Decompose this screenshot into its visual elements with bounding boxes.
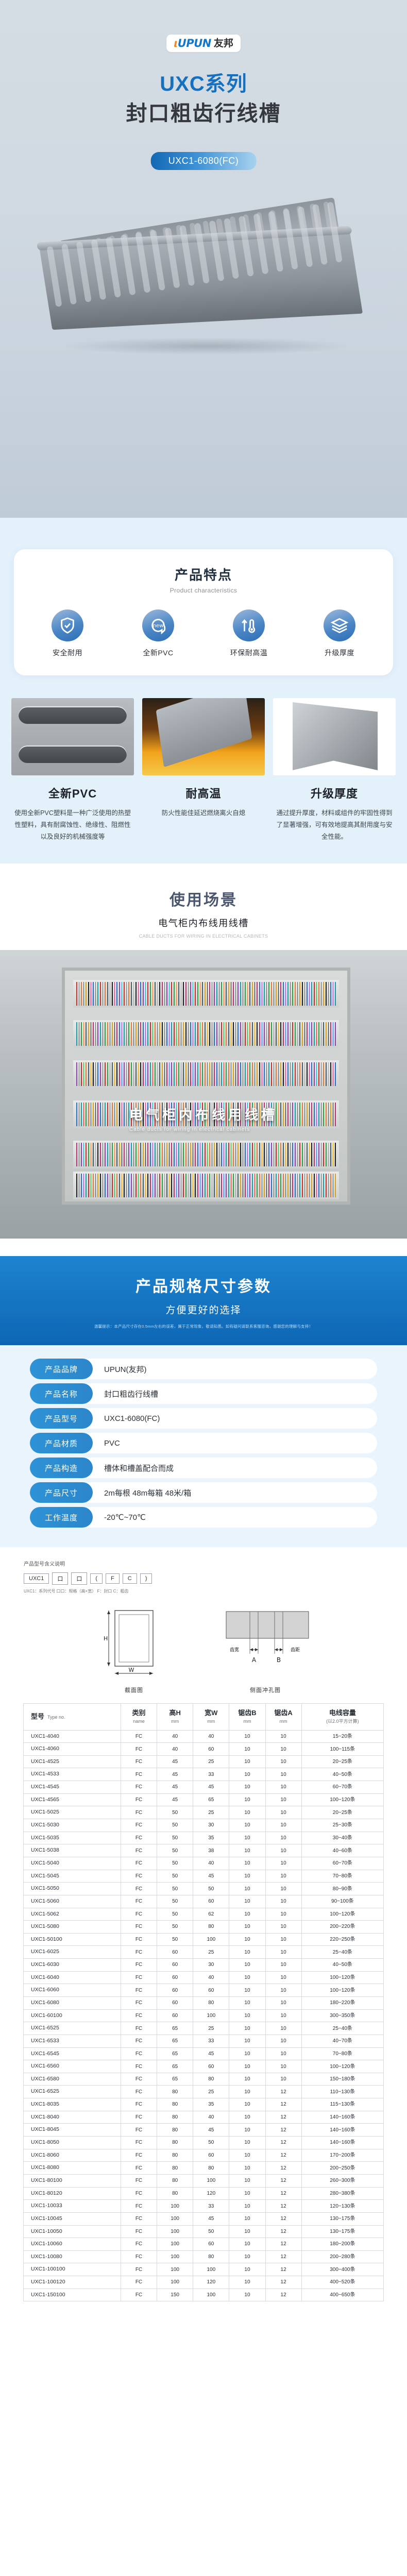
cell-value: 12 bbox=[265, 2200, 301, 2213]
cell-model: UXC1-6525 bbox=[24, 2022, 121, 2035]
table-row: UXC1-80120FC801201012280~380条 bbox=[24, 2187, 384, 2200]
cell-value: 10 bbox=[229, 2289, 265, 2301]
model-code-diagram: UXC1 口 口 ( F C ) bbox=[24, 1572, 383, 1585]
cell-value: 10 bbox=[265, 1895, 301, 1908]
feature-label: 环保耐高温 bbox=[210, 648, 287, 658]
cell-model: UXC1-5040 bbox=[24, 1857, 121, 1870]
cell-value: 100~120条 bbox=[301, 1908, 383, 1921]
cell-value: 70~80条 bbox=[301, 2047, 383, 2060]
cell-value: 10 bbox=[265, 1883, 301, 1895]
cell-value: 12 bbox=[265, 2289, 301, 2301]
table-row: UXC1-6060FC60601010100~120条 bbox=[24, 1984, 384, 1997]
cell-value: FC bbox=[121, 2060, 157, 2073]
cell-value: 40 bbox=[157, 1743, 193, 1756]
cell-value: FC bbox=[121, 1908, 157, 1921]
cell-value: FC bbox=[121, 1870, 157, 1883]
spec-table-section: 产品型号含义说明 UXC1 口 口 ( F C ) UXC1：系列代号 口口：规… bbox=[0, 1547, 407, 2322]
cell-value: FC bbox=[121, 2009, 157, 2022]
cell-value: 60 bbox=[193, 2149, 229, 2162]
cell-model: UXC1-6533 bbox=[24, 2035, 121, 2047]
cell-value: 10 bbox=[265, 1844, 301, 1857]
table-row: UXC1-4525FC4525101020~25条 bbox=[24, 1755, 384, 1768]
table-row: UXC1-8050FC80501012140~160条 bbox=[24, 2137, 384, 2149]
cell-value: 10 bbox=[229, 1844, 265, 1857]
cell-model: UXC1-8045 bbox=[24, 2124, 121, 2137]
duct-thickness-image bbox=[273, 698, 396, 775]
cell-value: 50 bbox=[157, 1857, 193, 1870]
table-row: UXC1-8040FC80401012140~160条 bbox=[24, 2111, 384, 2124]
cell-value: 10 bbox=[265, 1997, 301, 2010]
cell-value: 80 bbox=[157, 2187, 193, 2200]
table-row: UXC1-4060FC40601010100~115条 bbox=[24, 1743, 384, 1756]
cell-value: 10 bbox=[265, 2047, 301, 2060]
cell-value: 10 bbox=[229, 1895, 265, 1908]
cell-value: 62 bbox=[193, 1908, 229, 1921]
cell-value: 60 bbox=[157, 1971, 193, 1984]
features-card: 产品特点 Product characteristics 安全耐用 new 全新… bbox=[14, 549, 393, 675]
cell-model: UXC1-10080 bbox=[24, 2250, 121, 2263]
cell-value: 10 bbox=[229, 2047, 265, 2060]
cell-value: 10 bbox=[229, 1793, 265, 1806]
cell-value: 40 bbox=[193, 1971, 229, 1984]
cell-value: 110~130条 bbox=[301, 2086, 383, 2098]
cell-value: 10 bbox=[265, 1959, 301, 1972]
cell-value: FC bbox=[121, 1997, 157, 2010]
cell-value: 10 bbox=[229, 1781, 265, 1794]
feature-item-new-pvc: new 全新PVC bbox=[120, 609, 197, 658]
cell-value: FC bbox=[121, 2035, 157, 2047]
cell-model: UXC1-5080 bbox=[24, 1921, 121, 1934]
cell-value: FC bbox=[121, 1959, 157, 1972]
cell-value: 25~40条 bbox=[301, 1946, 383, 1959]
cell-value: 50 bbox=[193, 1883, 229, 1895]
cell-value: 80 bbox=[193, 2250, 229, 2263]
cell-value: 10 bbox=[229, 1883, 265, 1895]
cell-value: FC bbox=[121, 2149, 157, 2162]
spec-banner-note: 温馨提示：本产品尺寸存在0.5mm左右的误差，属于正常现象，敬请知悉。如有疑问请… bbox=[0, 1324, 407, 1330]
brand-logo: ιUPUN 友邦 bbox=[166, 35, 241, 52]
table-row: UXC1-8080FC80801012200~250条 bbox=[24, 2162, 384, 2175]
table-row: UXC1-4533FC4533101040~50条 bbox=[24, 1768, 384, 1781]
table-header-model: 型号Type no. bbox=[24, 1703, 121, 1730]
cell-value: 10 bbox=[265, 2009, 301, 2022]
cell-value: 100 bbox=[193, 2174, 229, 2187]
cell-value: 65 bbox=[157, 2035, 193, 2047]
cell-value: FC bbox=[121, 1857, 157, 1870]
cell-value: 10 bbox=[229, 1946, 265, 1959]
cell-value: 50 bbox=[193, 2225, 229, 2238]
spec-value: UPUN(友邦) bbox=[93, 1364, 147, 1375]
cell-value: 10 bbox=[229, 2174, 265, 2187]
thermometer-up-icon bbox=[233, 609, 265, 641]
cell-value: 10 bbox=[229, 2086, 265, 2098]
cell-model: UXC1-5038 bbox=[24, 1844, 121, 1857]
cell-value: 38 bbox=[193, 1844, 229, 1857]
table-header-tooth-a: 锯齿Amm bbox=[265, 1703, 301, 1730]
svg-text:B: B bbox=[277, 1656, 281, 1664]
table-row: UXC1-4040FC4040101015~20条 bbox=[24, 1730, 384, 1743]
cell-value: 45 bbox=[193, 2212, 229, 2225]
cell-model: UXC1-100120 bbox=[24, 2276, 121, 2289]
cell-value: 40 bbox=[193, 1730, 229, 1743]
cell-value: FC bbox=[121, 2174, 157, 2187]
hero-subtitle: 封口粗齿行线槽 bbox=[0, 96, 407, 127]
cell-model: UXC1-4545 bbox=[24, 1781, 121, 1794]
detail-heading: 耐高温 bbox=[142, 785, 265, 801]
cell-value: 50 bbox=[157, 1806, 193, 1819]
cell-model: UXC1-4060 bbox=[24, 1743, 121, 1756]
shield-check-icon bbox=[52, 609, 83, 641]
cell-value: 45 bbox=[157, 1768, 193, 1781]
cell-value: 40~70条 bbox=[301, 2035, 383, 2047]
cell-value: 10 bbox=[229, 2060, 265, 2073]
cell-model: UXC1-6025 bbox=[24, 1946, 121, 1959]
cell-model: UXC1-6560 bbox=[24, 2060, 121, 2073]
cell-value: FC bbox=[121, 2098, 157, 2111]
cell-value: 40~60条 bbox=[301, 1844, 383, 1857]
cell-value: 33 bbox=[193, 2035, 229, 2047]
spec-value: 封口粗齿行线槽 bbox=[93, 1388, 158, 1399]
cell-value: 12 bbox=[265, 2250, 301, 2263]
table-row: UXC1-5045FC5045101070~80条 bbox=[24, 1870, 384, 1883]
cell-value: FC bbox=[121, 1971, 157, 1984]
cell-value: 10 bbox=[265, 1806, 301, 1819]
cell-value: 12 bbox=[265, 2149, 301, 2162]
cell-value: 80 bbox=[157, 2162, 193, 2175]
cell-value: FC bbox=[121, 1793, 157, 1806]
cell-value: 50 bbox=[157, 1844, 193, 1857]
spec-key: 产品品牌 bbox=[30, 1359, 93, 1379]
cell-value: 45 bbox=[157, 1755, 193, 1768]
cell-value: 10 bbox=[229, 1819, 265, 1832]
cell-value: 12 bbox=[265, 2225, 301, 2238]
cell-value: 80 bbox=[193, 2073, 229, 2086]
cell-value: 100~120条 bbox=[301, 1793, 383, 1806]
cell-value: 90~100条 bbox=[301, 1895, 383, 1908]
cell-value: 120 bbox=[193, 2187, 229, 2200]
table-row: UXC1-5038FC5038101040~60条 bbox=[24, 1844, 384, 1857]
cell-value: 10 bbox=[229, 2149, 265, 2162]
cell-value: 100 bbox=[157, 2276, 193, 2289]
cell-value: 10 bbox=[229, 2263, 265, 2276]
code-cell: 口 bbox=[71, 1572, 87, 1585]
specification-table: 型号Type no. 类别name 高Hmm 宽Wmm 锯齿Bmm bbox=[23, 1703, 384, 2301]
cell-value: 10 bbox=[265, 1793, 301, 1806]
code-block-note: 产品型号含义说明 bbox=[24, 1560, 383, 1567]
cell-value: 60 bbox=[157, 1984, 193, 1997]
cell-value: 50 bbox=[157, 1933, 193, 1946]
cell-value: 100 bbox=[193, 2289, 229, 2301]
cell-model: UXC1-6060 bbox=[24, 1984, 121, 1997]
table-row: UXC1-6025FC6025101025~40条 bbox=[24, 1946, 384, 1959]
table-row: UXC1-5040FC5040101060~70条 bbox=[24, 1857, 384, 1870]
cell-value: 50 bbox=[157, 1908, 193, 1921]
code-cell: UXC1 bbox=[24, 1573, 49, 1584]
cell-value: 20~25条 bbox=[301, 1806, 383, 1819]
cell-model: UXC1-8035 bbox=[24, 2098, 121, 2111]
cell-value: FC bbox=[121, 1730, 157, 1743]
cell-value: 12 bbox=[265, 2212, 301, 2225]
cell-model: UXC1-80100 bbox=[24, 2174, 121, 2187]
cell-value: 15~20条 bbox=[301, 1730, 383, 1743]
side-punch-drawing: 齿宽 齿距 A B 侧面冲孔图 bbox=[214, 1604, 317, 1694]
cell-value: 10 bbox=[229, 1832, 265, 1844]
hero-model-badge: UXC1-6080(FC) bbox=[151, 152, 257, 170]
feature-label: 安全耐用 bbox=[29, 648, 106, 658]
cell-value: 10 bbox=[229, 2009, 265, 2022]
cabinet-body bbox=[62, 968, 350, 1205]
cell-value: FC bbox=[121, 1743, 157, 1756]
cell-value: 100 bbox=[157, 2250, 193, 2263]
cell-model: UXC1-8060 bbox=[24, 2149, 121, 2162]
layers-icon bbox=[324, 609, 355, 641]
cell-value: 80 bbox=[193, 2162, 229, 2175]
table-row: UXC1-4565FC45651010100~120条 bbox=[24, 1793, 384, 1806]
table-row: UXC1-10033FC100331012120~130条 bbox=[24, 2200, 384, 2213]
cell-value: 10 bbox=[229, 2124, 265, 2137]
cell-value: 70~80条 bbox=[301, 1870, 383, 1883]
cell-value: 200~280条 bbox=[301, 2250, 383, 2263]
table-row: UXC1-80100FC801001012260~300条 bbox=[24, 2174, 384, 2187]
cell-value: 10 bbox=[229, 1984, 265, 1997]
spec-row: 产品构造 槽体和槽盖配合而成 bbox=[30, 1458, 377, 1478]
cell-model: UXC1-8040 bbox=[24, 2111, 121, 2124]
cell-value: 40~50条 bbox=[301, 1959, 383, 1972]
spec-value: 槽体和槽盖配合而成 bbox=[93, 1463, 174, 1473]
cell-value: 200~220条 bbox=[301, 1921, 383, 1934]
cell-value: 12 bbox=[265, 2098, 301, 2111]
cell-value: 25 bbox=[193, 2086, 229, 2098]
cell-value: 40 bbox=[157, 1730, 193, 1743]
cell-value: 25 bbox=[193, 2022, 229, 2035]
cell-value: 60 bbox=[193, 1895, 229, 1908]
cell-value: 10 bbox=[265, 1870, 301, 1883]
code-cell: C bbox=[123, 1573, 137, 1584]
svg-text:H: H bbox=[104, 1635, 108, 1642]
table-row: UXC1-50100FC501001010220~250条 bbox=[24, 1933, 384, 1946]
cell-value: 10 bbox=[229, 2238, 265, 2251]
cross-section-drawing: H W 截面图 bbox=[90, 1604, 178, 1694]
cell-model: UXC1-8080 bbox=[24, 2162, 121, 2175]
cell-value: 12 bbox=[265, 2086, 301, 2098]
detail-body: 防火性能佳延迟燃烧离火自熄 bbox=[142, 807, 265, 819]
cell-value: 10 bbox=[265, 1743, 301, 1756]
cell-value: 12 bbox=[265, 2263, 301, 2276]
cell-value: 10 bbox=[265, 1857, 301, 1870]
cell-value: 100~115条 bbox=[301, 1743, 383, 1756]
cell-value: 10 bbox=[229, 1857, 265, 1870]
cell-value: 40 bbox=[193, 2111, 229, 2124]
cell-value: 100 bbox=[157, 2225, 193, 2238]
cell-value: 20~25条 bbox=[301, 1755, 383, 1768]
table-row: UXC1-6580FC65801010150~180条 bbox=[24, 2073, 384, 2086]
cell-value: 12 bbox=[265, 2238, 301, 2251]
table-row: UXC1-150100FC1501001012400~650条 bbox=[24, 2289, 384, 2301]
svg-text:A: A bbox=[252, 1656, 257, 1664]
table-row: UXC1-8045FC80451012140~160条 bbox=[24, 2124, 384, 2137]
cell-value: FC bbox=[121, 2238, 157, 2251]
cell-value: 33 bbox=[193, 1768, 229, 1781]
cell-value: 10 bbox=[265, 1768, 301, 1781]
cell-model: UXC1-80120 bbox=[24, 2187, 121, 2200]
duct-over-flame-image bbox=[142, 698, 265, 775]
cell-value: 45 bbox=[193, 1781, 229, 1794]
table-row: UXC1-5062FC50621010100~120条 bbox=[24, 1908, 384, 1921]
scene-subtitle: 电气柜内布线用线槽 bbox=[0, 916, 407, 929]
spec-value: -20℃~70℃ bbox=[93, 1513, 146, 1522]
cell-model: UXC1-10060 bbox=[24, 2238, 121, 2251]
cell-value: 180~220条 bbox=[301, 1997, 383, 2010]
svg-text:new: new bbox=[153, 623, 163, 629]
cell-value: 60~70条 bbox=[301, 1781, 383, 1794]
spec-list-section: 产品品牌 UPUN(友邦) 产品名称 封口粗齿行线槽 产品型号 UXC1-608… bbox=[0, 1345, 407, 1547]
cell-value: 300~350条 bbox=[301, 2009, 383, 2022]
spec-row: 产品尺寸 2m每根 48m每箱 48米/箱 bbox=[30, 1482, 377, 1503]
cell-model: UXC1-50100 bbox=[24, 1933, 121, 1946]
feature-item-thickness: 升级厚度 bbox=[301, 609, 378, 658]
spec-key: 产品名称 bbox=[30, 1383, 93, 1404]
cell-value: 25 bbox=[193, 1946, 229, 1959]
cell-value: 10 bbox=[265, 2073, 301, 2086]
code-cell: ) bbox=[140, 1573, 152, 1584]
cell-value: 50 bbox=[157, 1921, 193, 1934]
cell-value: FC bbox=[121, 1768, 157, 1781]
cell-value: FC bbox=[121, 1781, 157, 1794]
cell-value: 10 bbox=[265, 1933, 301, 1946]
table-row: UXC1-6533FC6533101040~70条 bbox=[24, 2035, 384, 2047]
cell-value: 10 bbox=[265, 1908, 301, 1921]
spec-key: 产品型号 bbox=[30, 1408, 93, 1429]
cell-value: 25 bbox=[193, 1755, 229, 1768]
cell-value: 120~130条 bbox=[301, 2200, 383, 2213]
table-row: UXC1-8035FC80351012115~130条 bbox=[24, 2098, 384, 2111]
detail-heading: 升级厚度 bbox=[273, 785, 396, 801]
spec-row: 产品品牌 UPUN(友邦) bbox=[30, 1359, 377, 1379]
table-row: UXC1-4545FC4545101060~70条 bbox=[24, 1781, 384, 1794]
cell-value: 10 bbox=[265, 1971, 301, 1984]
spec-value: PVC bbox=[93, 1439, 120, 1448]
cell-value: 10 bbox=[265, 1921, 301, 1934]
cell-value: 10 bbox=[229, 2022, 265, 2035]
cell-value: 10 bbox=[229, 2137, 265, 2149]
cell-value: 400~520条 bbox=[301, 2276, 383, 2289]
table-header-capacity: 电线容量(以2.0平方计算) bbox=[301, 1703, 383, 1730]
cell-value: 60 bbox=[157, 1946, 193, 1959]
cell-value: 10 bbox=[229, 2200, 265, 2213]
cell-value: 150~180条 bbox=[301, 2073, 383, 2086]
cell-value: 100~120条 bbox=[301, 1971, 383, 1984]
cell-value: FC bbox=[121, 1806, 157, 1819]
table-row: UXC1-6525FC6525101025~40条 bbox=[24, 2022, 384, 2035]
cell-value: FC bbox=[121, 2263, 157, 2276]
table-header-height: 高Hmm bbox=[157, 1703, 193, 1730]
table-row: UXC1-6560FC65601010100~120条 bbox=[24, 2060, 384, 2073]
cell-value: FC bbox=[121, 1844, 157, 1857]
cell-value: 60~70条 bbox=[301, 1857, 383, 1870]
cell-value: 40~50条 bbox=[301, 1768, 383, 1781]
cell-value: FC bbox=[121, 1984, 157, 1997]
cell-value: 180~200条 bbox=[301, 2238, 383, 2251]
spec-banner: 产品规格尺寸参数 方便更好的选择 温馨提示：本产品尺寸存在0.5mm左右的误差，… bbox=[0, 1256, 407, 1345]
cell-value: 65 bbox=[157, 2022, 193, 2035]
table-row: UXC1-5025FC5025101020~25条 bbox=[24, 1806, 384, 1819]
cell-value: 45 bbox=[193, 2047, 229, 2060]
cell-value: 100 bbox=[157, 2212, 193, 2225]
cell-value: FC bbox=[121, 1819, 157, 1832]
cell-value: FC bbox=[121, 2225, 157, 2238]
cell-value: 10 bbox=[265, 1984, 301, 1997]
cell-value: 12 bbox=[265, 2174, 301, 2187]
cell-value: FC bbox=[121, 2200, 157, 2213]
cell-value: 65 bbox=[157, 2073, 193, 2086]
table-row: UXC1-10080FC100801012200~280条 bbox=[24, 2250, 384, 2263]
detail-columns-section: 全新PVC 使用全新PVC塑料是一种广泛使用的热塑性塑料，具有耐腐蚀性、绝缘性、… bbox=[0, 675, 407, 863]
cell-value: 100 bbox=[157, 2200, 193, 2213]
drawing-caption: 侧面冲孔图 bbox=[214, 1686, 317, 1694]
cell-value: 45 bbox=[157, 1793, 193, 1806]
cell-value: 60 bbox=[157, 2009, 193, 2022]
cell-value: 10 bbox=[229, 2035, 265, 2047]
cell-value: 140~160条 bbox=[301, 2124, 383, 2137]
new-bubble-icon: new bbox=[142, 609, 174, 641]
cell-value: FC bbox=[121, 1933, 157, 1946]
table-row: UXC1-6080FC60801010180~220条 bbox=[24, 1997, 384, 2010]
cell-value: 10 bbox=[229, 1806, 265, 1819]
scene-title: 使用场景 bbox=[0, 887, 407, 910]
cell-value: FC bbox=[121, 2086, 157, 2098]
cell-value: FC bbox=[121, 2137, 157, 2149]
spec-key: 工作温度 bbox=[30, 1507, 93, 1528]
cell-value: 12 bbox=[265, 2111, 301, 2124]
cell-value: 12 bbox=[265, 2137, 301, 2149]
cell-value: 35 bbox=[193, 1832, 229, 1844]
hero-product-image bbox=[0, 183, 407, 492]
cell-value: 80 bbox=[157, 2124, 193, 2137]
cell-value: 60 bbox=[157, 1959, 193, 1972]
cell-value: 50 bbox=[193, 2137, 229, 2149]
table-row: UXC1-6525FC80251012110~130条 bbox=[24, 2086, 384, 2098]
cell-value: 100 bbox=[193, 2263, 229, 2276]
cell-value: 100 bbox=[193, 1933, 229, 1946]
cell-value: 65 bbox=[157, 2060, 193, 2073]
cell-value: FC bbox=[121, 1755, 157, 1768]
cell-value: 45 bbox=[157, 1781, 193, 1794]
code-cell: 口 bbox=[52, 1572, 68, 1585]
cell-value: 30 bbox=[193, 1959, 229, 1972]
cell-value: 140~160条 bbox=[301, 2111, 383, 2124]
spec-banner-title: 产品规格尺寸参数 bbox=[0, 1274, 407, 1296]
cell-value: FC bbox=[121, 2276, 157, 2289]
cell-model: UXC1-4533 bbox=[24, 1768, 121, 1781]
cell-value: 100~120条 bbox=[301, 2060, 383, 2073]
cell-value: 80 bbox=[157, 2174, 193, 2187]
cell-value: 10 bbox=[265, 2060, 301, 2073]
cell-value: 10 bbox=[229, 2073, 265, 2086]
cell-value: 220~250条 bbox=[301, 1933, 383, 1946]
feature-item-safety: 安全耐用 bbox=[29, 609, 106, 658]
cell-value: 65 bbox=[157, 2047, 193, 2060]
cell-value: 10 bbox=[229, 1959, 265, 1972]
cell-model: UXC1-6040 bbox=[24, 1971, 121, 1984]
cell-value: 300~400条 bbox=[301, 2263, 383, 2276]
cell-value: 60 bbox=[193, 1984, 229, 1997]
cell-value: FC bbox=[121, 2250, 157, 2263]
cell-value: 60 bbox=[157, 1997, 193, 2010]
cell-value: 10 bbox=[229, 1870, 265, 1883]
scene-photo-caption: 电气柜内布线用线槽 Cable ducts for wiring in elec… bbox=[129, 1105, 278, 1132]
cell-value: 50 bbox=[157, 1883, 193, 1895]
cell-value: 100 bbox=[157, 2263, 193, 2276]
